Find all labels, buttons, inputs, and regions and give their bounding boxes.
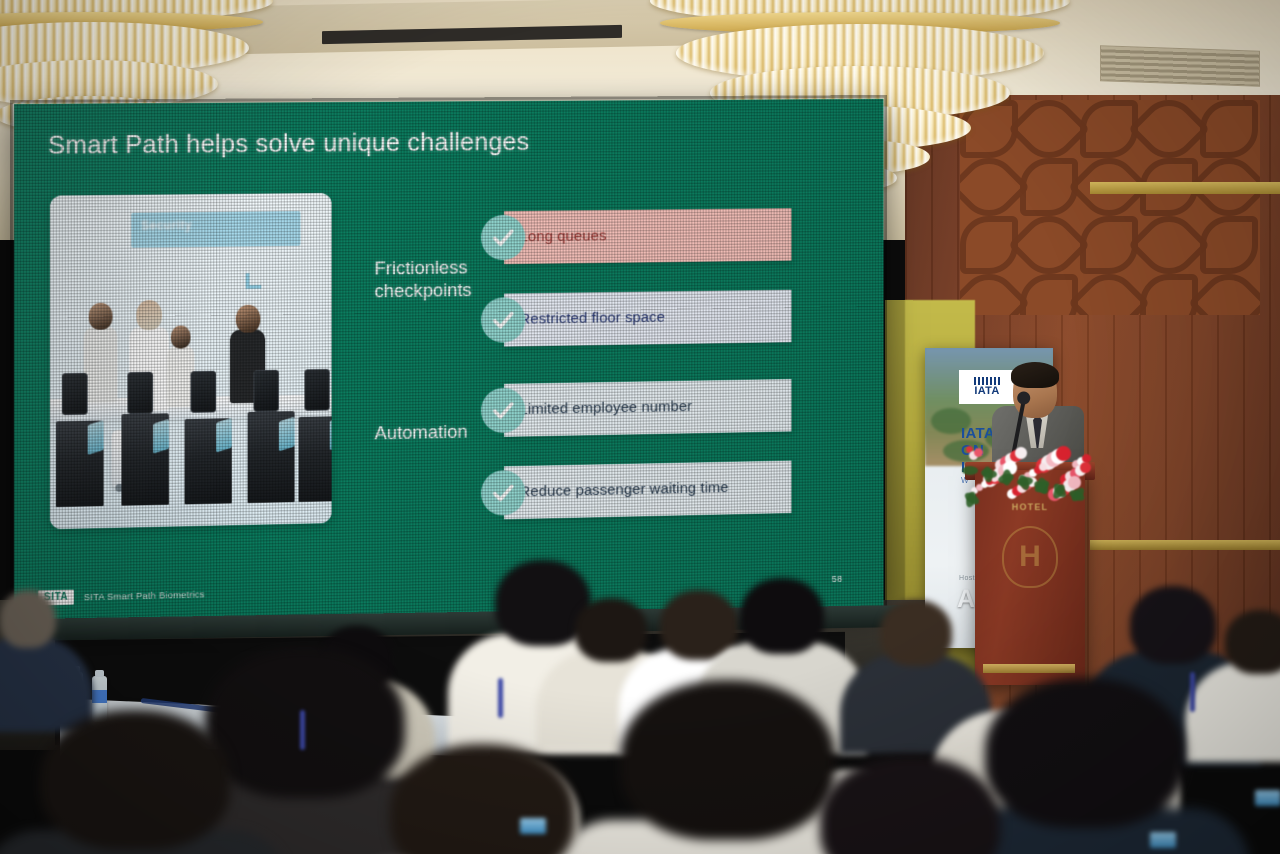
photo-traveller-head (171, 325, 191, 348)
audience-member-head (620, 680, 835, 840)
led-presentation-screen: Smart Path helps solve unique challenges… (14, 99, 883, 628)
flower (1039, 463, 1047, 471)
slide-photo: Security (50, 193, 332, 529)
device-screen-glow (520, 818, 546, 834)
wall-gold-trim-top (1090, 182, 1280, 194)
egate-flap (279, 417, 295, 452)
egate-flap (88, 420, 104, 455)
audience-member-head (390, 744, 575, 854)
audience (0, 560, 1280, 854)
lanyard (498, 678, 503, 718)
flower-leaf (1002, 469, 1011, 485)
egate-screen (127, 372, 153, 414)
carved-lattice-panel (960, 100, 1260, 315)
audience-member-head (880, 600, 952, 666)
speaker-hair (1011, 362, 1059, 388)
photo-security-banner: Security (131, 211, 300, 248)
egate-screen (191, 371, 217, 413)
flower (1080, 462, 1091, 473)
lanyard (1190, 672, 1195, 712)
flower (974, 448, 983, 457)
lanyard (300, 710, 305, 750)
iata-logo: IATA (959, 370, 1015, 404)
lattice-cell (1200, 216, 1258, 274)
device-screen-glow (1150, 832, 1176, 848)
challenge-row-label: Restricted floor space (504, 309, 665, 329)
device-screen-glow (1255, 790, 1280, 806)
lattice-cell (1020, 274, 1078, 315)
ceiling-vent-icon (1100, 45, 1260, 87)
audience-member-head (40, 710, 230, 850)
photo-security-banner-label: Security (141, 218, 192, 232)
egate-flap (216, 418, 232, 453)
iata-logo-icon (974, 377, 1000, 385)
egate-flap (330, 416, 332, 450)
flower (1015, 447, 1027, 459)
audience-member-head (575, 598, 647, 662)
audience-member-head (1225, 610, 1280, 674)
audience-member-head (205, 648, 405, 798)
wall-gold-trim-bottom (1090, 540, 1280, 550)
challenge-row-bar: Restricted floor space (504, 290, 791, 347)
flower-arrangement (962, 440, 1090, 500)
category-label-frictionless: Frictionlesscheckpoints (375, 257, 472, 304)
egate-screen (304, 369, 329, 411)
audience-member-head (0, 590, 56, 648)
slide-title: Smart Path helps solve unique challenges (48, 126, 529, 160)
photo-traveller-head (89, 303, 113, 330)
photo-traveller-body (84, 327, 118, 403)
slide-content: Smart Path helps solve unique challenges… (14, 99, 883, 628)
flower (1056, 446, 1071, 461)
challenge-row-bar: Reduce passenger waiting time (504, 461, 791, 520)
audience-member-head (1130, 586, 1216, 664)
audience-member-head (740, 578, 824, 654)
iata-logo-text: IATA (974, 386, 999, 397)
photo-traveller-head (136, 300, 162, 330)
challenge-row-bar: Long queues (504, 208, 791, 264)
conference-photo-scene: Smart Path helps solve unique challenges… (0, 0, 1280, 854)
lattice-cell (1140, 274, 1198, 315)
audience-member-body (0, 636, 93, 732)
challenge-row-label: Limited employee number (504, 398, 692, 419)
category-label-automation: Automation (375, 421, 468, 446)
egate (299, 416, 332, 502)
lattice-cell (1200, 100, 1258, 158)
egate-screen (253, 370, 278, 412)
challenge-row-bar: Limited employee number (504, 379, 791, 437)
flower-leaf (962, 466, 978, 475)
photo-traveller-head (235, 305, 260, 333)
egate-screen (62, 373, 88, 415)
challenge-row-label: Reduce passenger waiting time (504, 479, 728, 501)
egate-flap (153, 419, 169, 454)
audience-member-head (985, 678, 1185, 828)
podium-hotel-text: HOTEL (975, 502, 1085, 512)
photo-airport-logo-icon (246, 273, 262, 289)
